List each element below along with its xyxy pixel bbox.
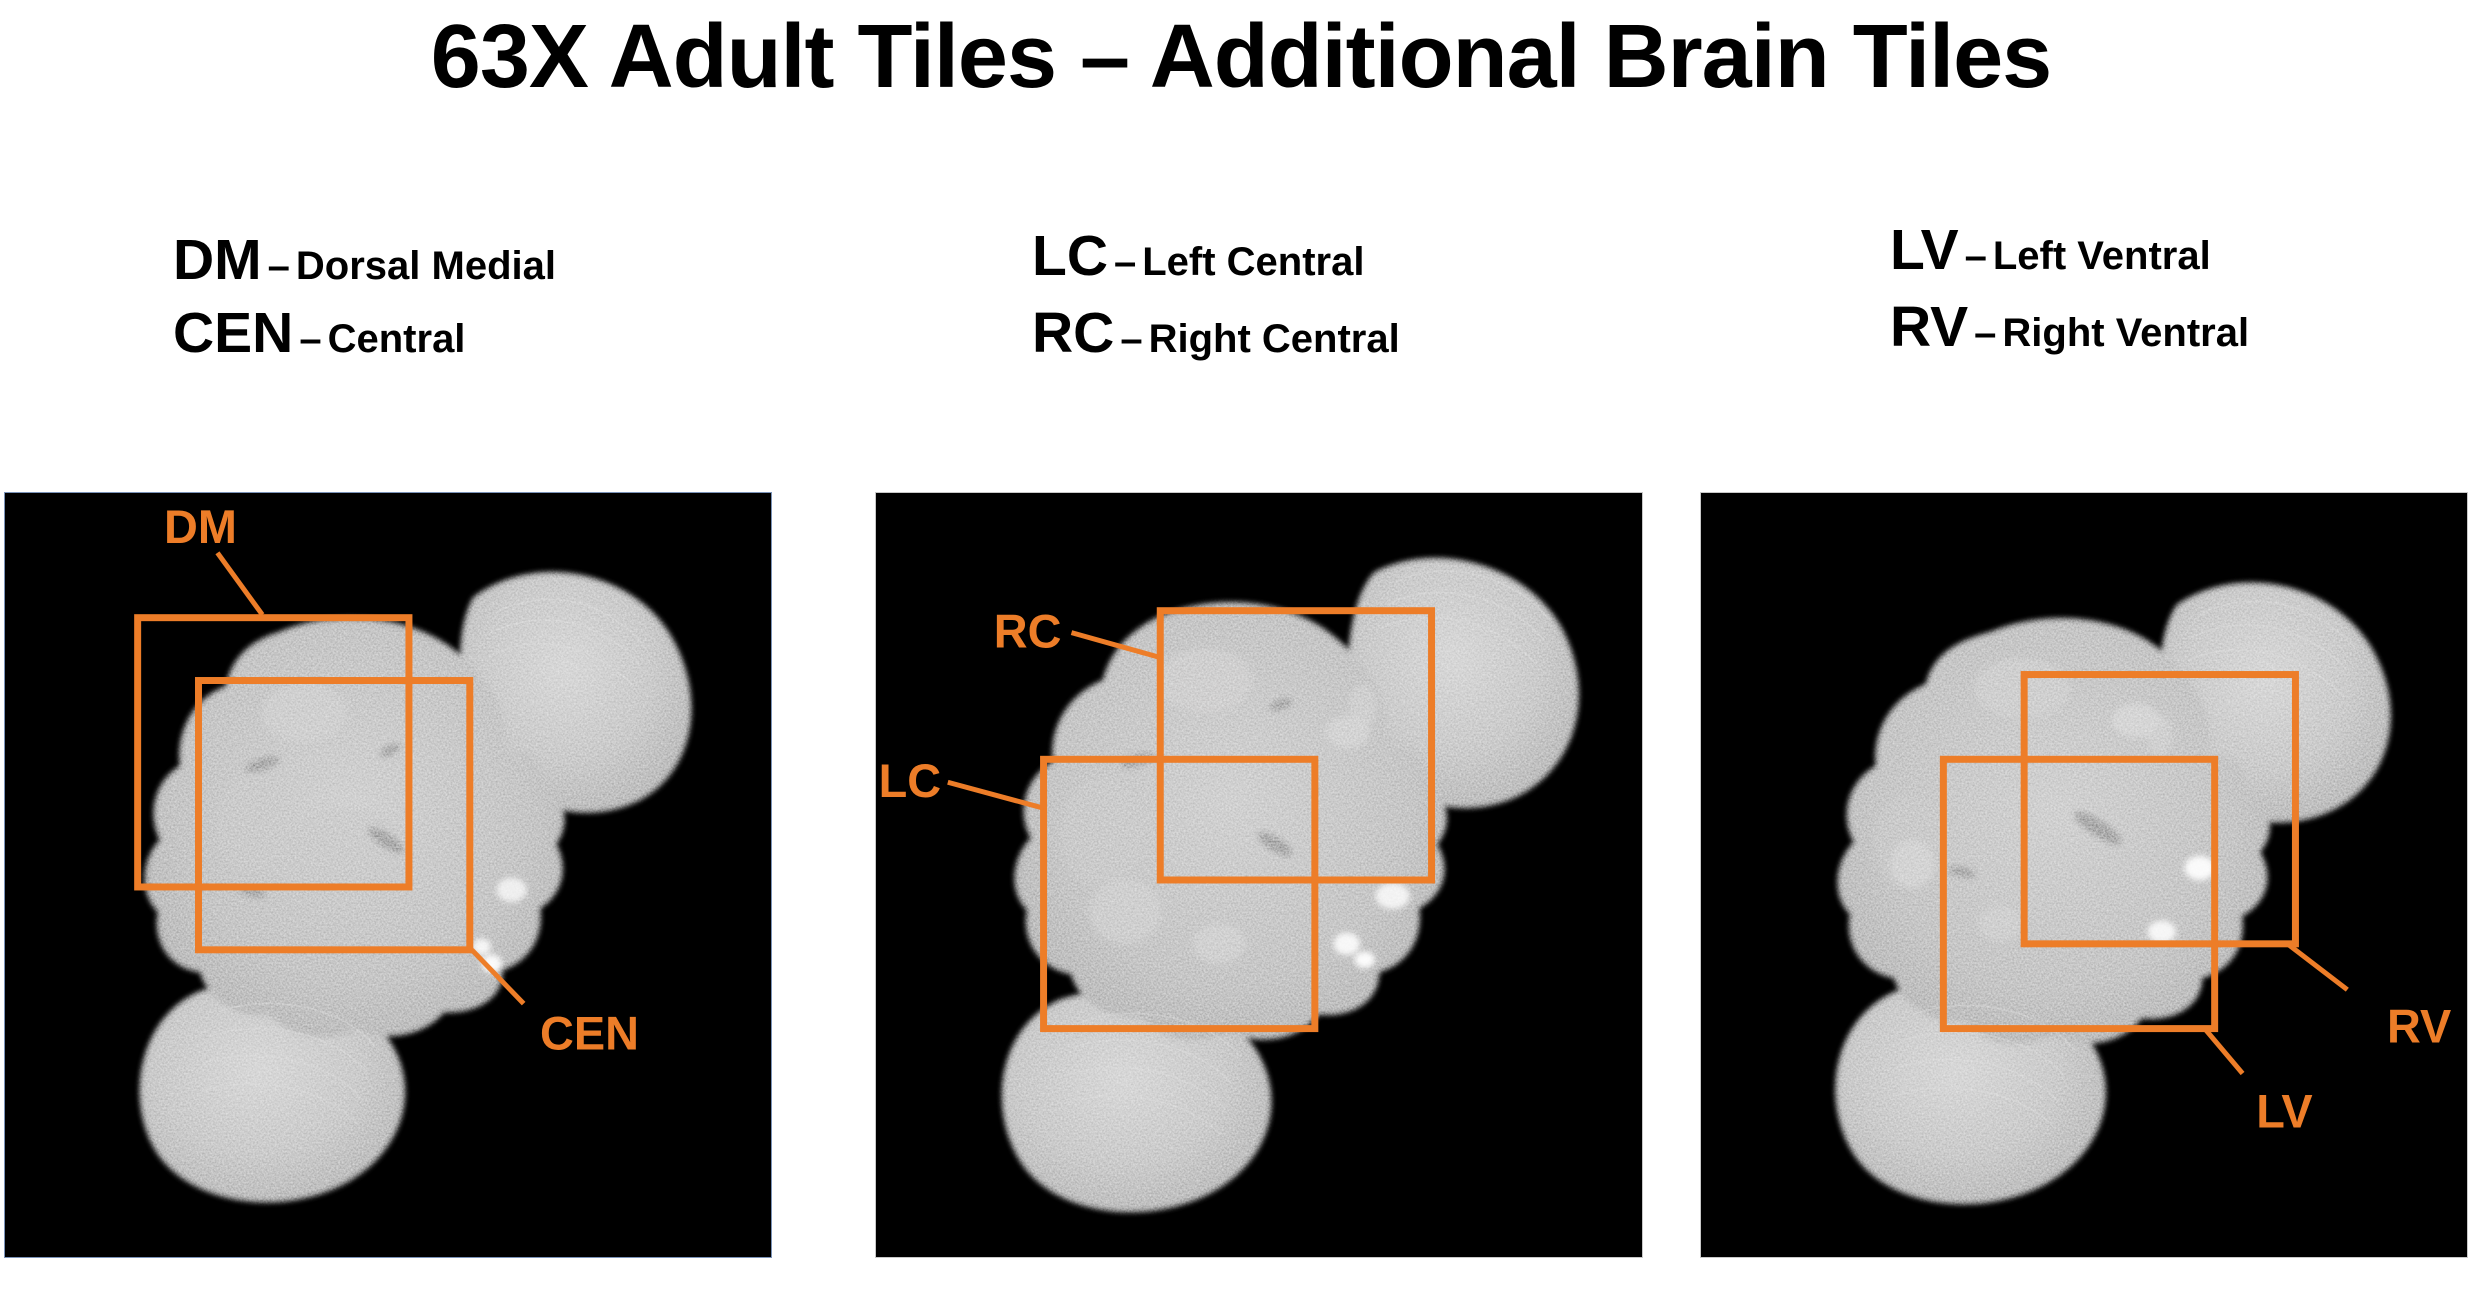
legend-dash: – bbox=[1108, 240, 1142, 284]
brain-panel-lv-rv[interactable]: RV LV bbox=[1700, 492, 2468, 1258]
legend-entry-lc: LC–Left Central bbox=[1032, 228, 1400, 285]
roi-label-cen: CEN bbox=[540, 1008, 639, 1060]
legend-abbr-dm: DM bbox=[173, 228, 262, 292]
legend-dash: – bbox=[1968, 311, 2002, 355]
legend-column-middle: LC–Left Central RC–Right Central bbox=[1032, 228, 1400, 362]
legend-fullname-rc: Right Central bbox=[1149, 317, 1400, 361]
legend-dash: – bbox=[293, 317, 327, 361]
legend-entry-cen: CEN–Central bbox=[173, 305, 556, 362]
legend-dash: – bbox=[262, 244, 296, 288]
legend-column-left: DM–Dorsal Medial CEN–Central bbox=[173, 232, 556, 362]
legend-entry-lv: LV–Left Ventral bbox=[1890, 222, 2249, 279]
legend-fullname-lc: Left Central bbox=[1142, 240, 1364, 284]
legend-dash: – bbox=[1114, 317, 1148, 361]
roi-label-lv: LV bbox=[2256, 1085, 2312, 1137]
legend-entry-rc: RC–Right Central bbox=[1032, 305, 1400, 362]
legend-abbr-lc: LC bbox=[1032, 224, 1108, 288]
legend-entry-rv: RV–Right Ventral bbox=[1890, 299, 2249, 356]
legend-dash: – bbox=[1959, 234, 1993, 278]
roi-label-rc: RC bbox=[994, 606, 1062, 658]
roi-label-lc: LC bbox=[879, 755, 941, 807]
legend-fullname-dm: Dorsal Medial bbox=[296, 244, 556, 288]
brain-panel-dm-cen[interactable]: DM CEN bbox=[4, 492, 772, 1258]
legend-fullname-cen: Central bbox=[328, 317, 466, 361]
page-title: 63X Adult Tiles – Additional Brain Tiles bbox=[0, 6, 2482, 109]
legend-abbr-lv: LV bbox=[1890, 218, 1959, 282]
brain-panel-lc-rc[interactable]: RC LC bbox=[875, 492, 1643, 1258]
legend-abbr-rc: RC bbox=[1032, 301, 1114, 365]
legend-abbr-cen: CEN bbox=[173, 301, 293, 365]
legend-fullname-rv: Right Ventral bbox=[2002, 311, 2249, 355]
roi-label-dm: DM bbox=[164, 501, 237, 553]
legend-column-right: LV–Left Ventral RV–Right Ventral bbox=[1890, 222, 2249, 356]
legend-abbr-rv: RV bbox=[1890, 295, 1968, 359]
legend-entry-dm: DM–Dorsal Medial bbox=[173, 232, 556, 289]
legend-fullname-lv: Left Ventral bbox=[1993, 234, 2211, 278]
roi-label-rv: RV bbox=[2387, 1001, 2451, 1053]
